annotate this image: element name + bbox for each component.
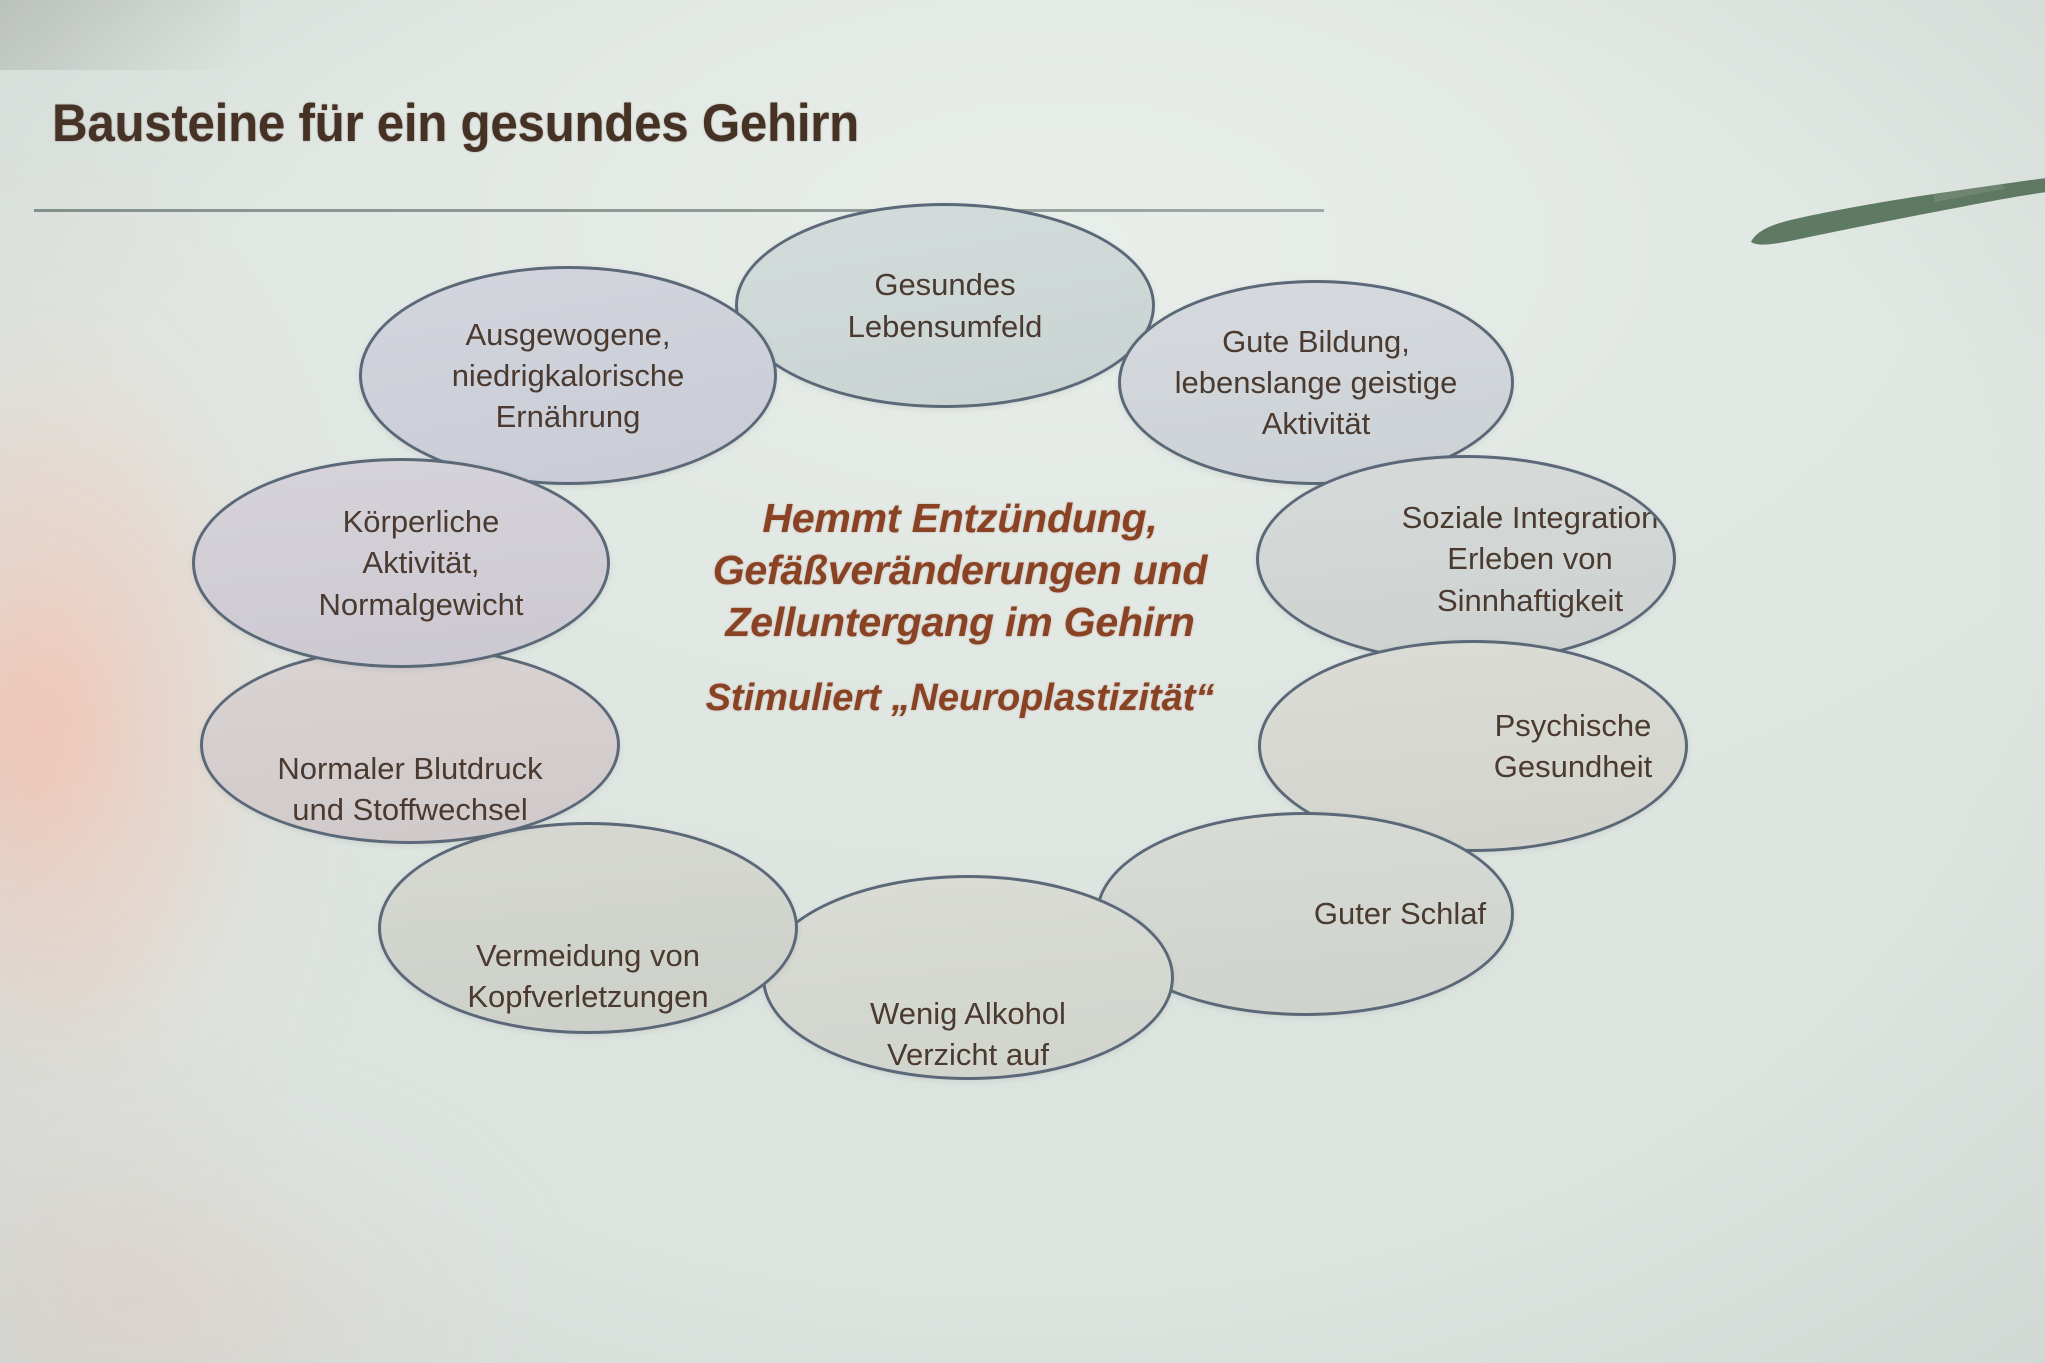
ellipse-soziale-integration[interactable]: Soziale Integration Erleben von Sinnhaft…: [1256, 455, 1676, 663]
ellipse-koerperliche-aktivitaet[interactable]: Körperliche Aktivität, Normalgewicht: [192, 458, 610, 668]
title-divider: [34, 209, 1324, 212]
center-text-block: Hemmt Entzündung, Gefäßveränderungen und…: [640, 492, 1280, 723]
ellipse-label: Vermeidung von Kopfverletzungen: [453, 935, 722, 1017]
center-text-primary: Hemmt Entzündung, Gefäßveränderungen und…: [640, 492, 1280, 648]
ellipse-label: Gesundes Lebensumfeld: [834, 264, 1057, 346]
ellipse-label: Guter Schlaf: [1300, 893, 1500, 934]
background-corner-shade: [0, 0, 240, 70]
ellipse-label: Normaler Blutdruck und Stoffwechsel: [263, 748, 556, 830]
ellipse-label: Ausgewogene, niedrigkalorische Ernährung: [438, 314, 699, 438]
presentation-slide: Bausteine für ein gesundes Gehirn Gesund…: [0, 0, 2045, 1363]
ellipse-label: Psychische Gesundheit: [1480, 705, 1667, 787]
center-text-secondary: Stimuliert „Neuroplastizität“: [640, 674, 1280, 723]
ellipse-normaler-blutdruck[interactable]: Normaler Blutdruck und Stoffwechsel: [200, 646, 620, 844]
ellipse-label: Körperliche Aktivität, Normalgewicht: [304, 501, 537, 625]
ellipse-wenig-alkohol[interactable]: Wenig Alkohol Verzicht auf Rauchen: [762, 875, 1174, 1080]
ellipse-label: Wenig Alkohol Verzicht auf Rauchen: [856, 993, 1080, 1080]
ellipse-label: Soziale Integration Erleben von Sinnhaft…: [1388, 497, 1673, 621]
background-warm-glow-bottom: [0, 1003, 680, 1363]
ellipse-ausgewogene-ernaehrung[interactable]: Ausgewogene, niedrigkalorische Ernährung: [359, 266, 777, 485]
ellipse-label: Gute Bildung, lebenslange geistige Aktiv…: [1161, 321, 1472, 445]
ellipse-vermeidung-kopfverletzungen[interactable]: Vermeidung von Kopfverletzungen: [378, 822, 798, 1034]
page-title: Bausteine für ein gesundes Gehirn: [52, 93, 859, 154]
ellipse-gesundes-lebensumfeld[interactable]: Gesundes Lebensumfeld: [735, 203, 1155, 408]
